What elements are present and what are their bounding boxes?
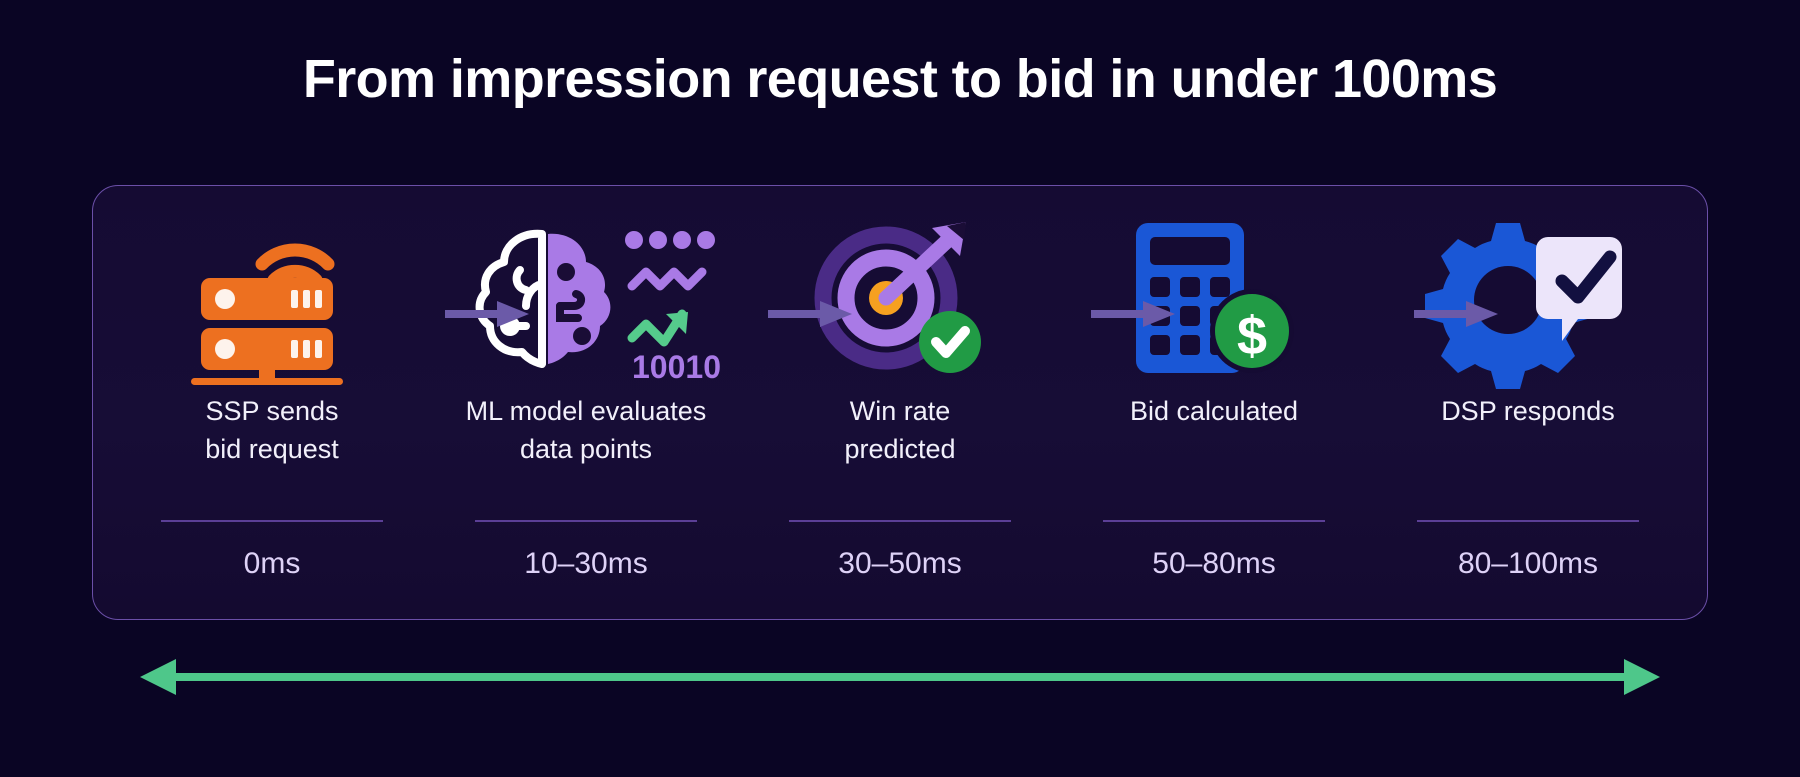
pipeline-step-3[interactable]: Win rate predicted 30–50ms <box>743 186 1057 619</box>
step-4-label-line-1: Bid calculated <box>1130 396 1298 426</box>
step-2-label-line-2: data points <box>520 434 652 464</box>
pipeline-step-1-label: SSP sends bid request <box>205 392 339 469</box>
step-1-label-line-1: SSP sends <box>205 396 338 426</box>
server-wifi-icon <box>115 214 429 382</box>
pipeline-step-4[interactable]: $ Bid calculated 50–80ms <box>1057 186 1371 619</box>
arrow-step-1-to-2 <box>445 299 529 329</box>
pipeline-steps: SSP sends bid request 0ms <box>93 186 1707 619</box>
total-duration-span-arrow <box>140 655 1660 699</box>
target-arrow-check-icon <box>743 214 1057 382</box>
pipeline-card: SSP sends bid request 0ms <box>92 185 1708 620</box>
pipeline-step-3-divider <box>789 520 1011 522</box>
page-title: From impression request to bid in under … <box>0 48 1800 110</box>
pipeline-step-4-time: 50–80ms <box>1057 547 1371 581</box>
pipeline-step-5-label: DSP responds <box>1441 392 1615 430</box>
pipeline-step-5-divider <box>1417 520 1639 522</box>
step-2-label-line-1: ML model evaluates <box>466 396 707 426</box>
pipeline-step-1-time: 0ms <box>115 547 429 581</box>
step-1-label-line-2: bid request <box>205 434 339 464</box>
arrow-step-4-to-5 <box>1414 299 1498 329</box>
pipeline-step-2[interactable]: 10010 ML model evaluates data points 10–… <box>429 186 743 619</box>
pipeline-step-2-label: ML model evaluates data points <box>466 392 707 469</box>
gear-chat-check-icon <box>1371 214 1685 382</box>
arrow-step-2-to-3 <box>768 299 852 329</box>
pipeline-step-1-divider <box>161 520 383 522</box>
infographic-root: From impression request to bid in under … <box>0 0 1800 777</box>
arrow-step-3-to-4 <box>1091 299 1175 329</box>
dollar-glyph: $ <box>1237 306 1267 366</box>
step-5-label-line-1: DSP responds <box>1441 396 1615 426</box>
pipeline-step-4-divider <box>1103 520 1325 522</box>
pipeline-step-3-label: Win rate predicted <box>844 392 955 469</box>
pipeline-step-5-time: 80–100ms <box>1371 547 1685 581</box>
brain-data-icon: 10010 <box>429 214 743 382</box>
pipeline-step-5[interactable]: DSP responds 80–100ms <box>1371 186 1685 619</box>
pipeline-step-2-time: 10–30ms <box>429 547 743 581</box>
pipeline-step-1[interactable]: SSP sends bid request 0ms <box>115 186 429 619</box>
pipeline-step-3-time: 30–50ms <box>743 547 1057 581</box>
pipeline-step-2-divider <box>475 520 697 522</box>
step-3-label-line-2: predicted <box>844 434 955 464</box>
binary-text: 10010 <box>632 349 721 385</box>
step-3-label-line-1: Win rate <box>850 396 951 426</box>
pipeline-step-4-label: Bid calculated <box>1130 392 1298 430</box>
calculator-dollar-icon: $ <box>1057 214 1371 382</box>
